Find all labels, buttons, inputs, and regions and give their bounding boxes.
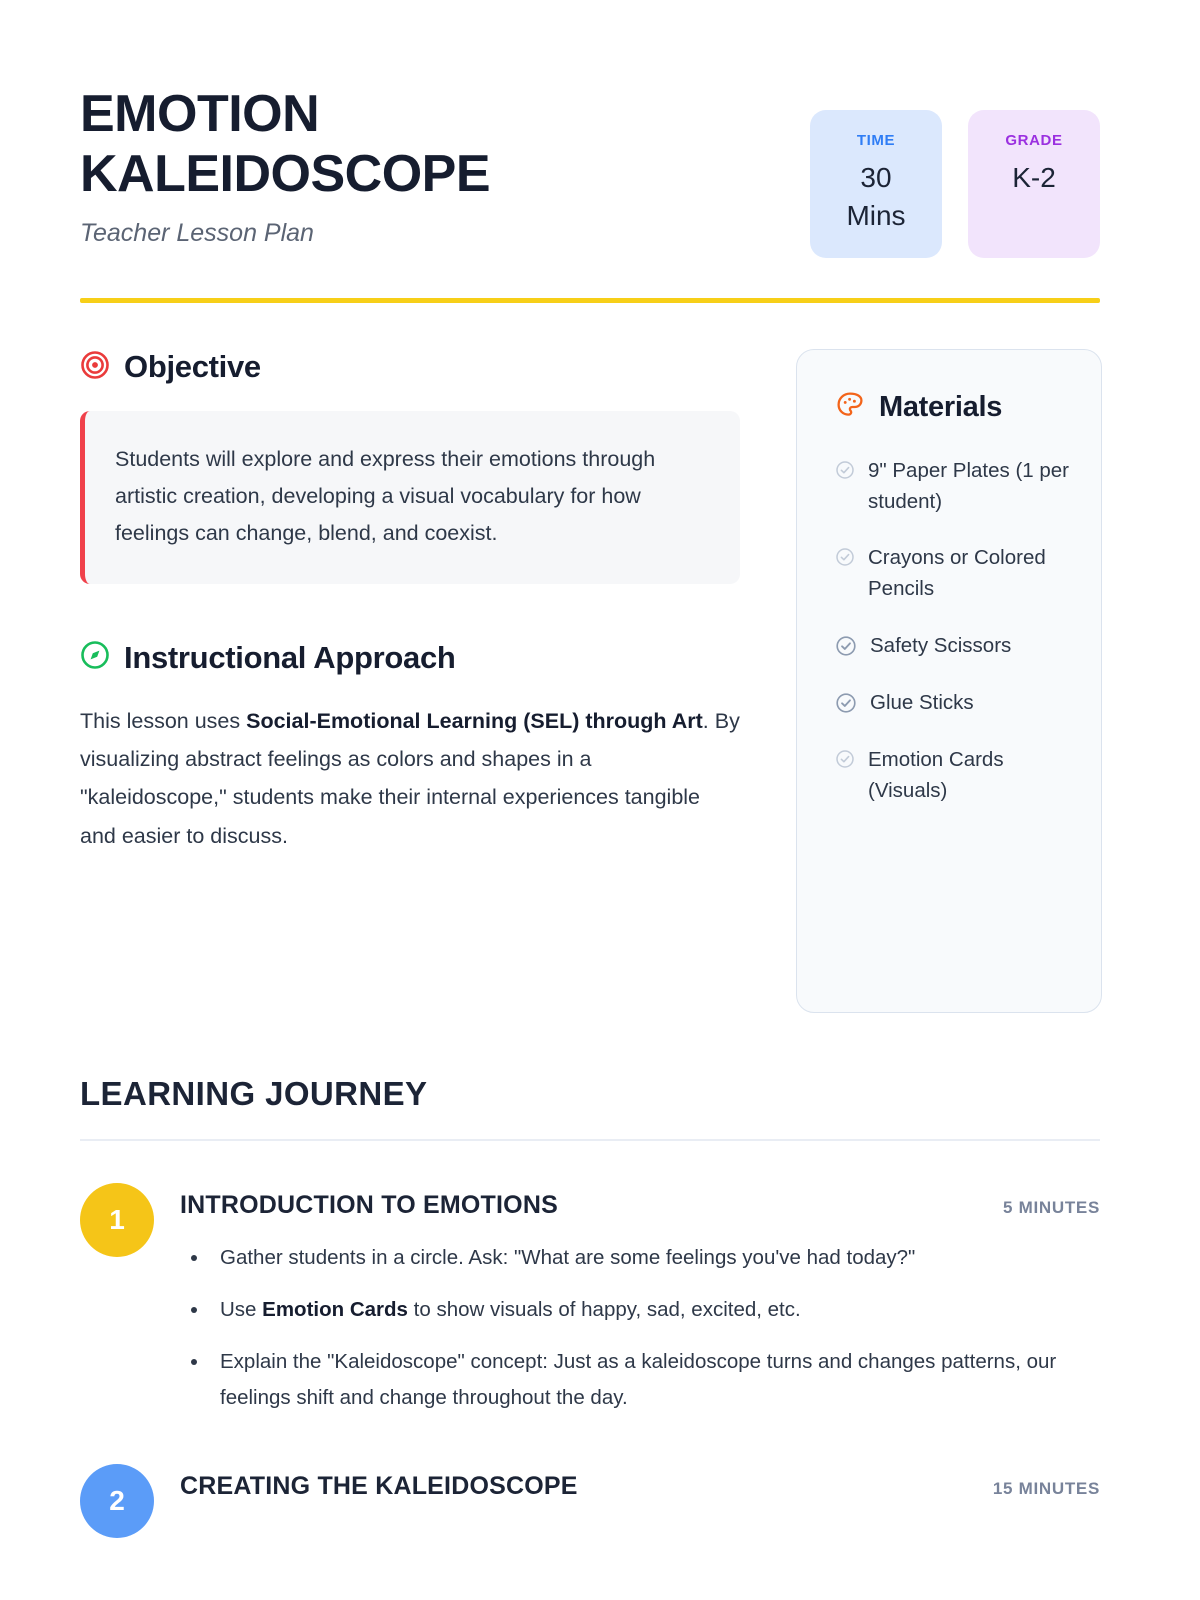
step-bullet-list: Gather students in a circle. Ask: "What … bbox=[180, 1240, 1100, 1416]
bullet-text-pre: Use bbox=[220, 1298, 262, 1321]
step-header: INTRODUCTION TO EMOTIONS 5 MINUTES bbox=[180, 1191, 1100, 1220]
objective-heading: Objective bbox=[80, 349, 740, 385]
step-body: CREATING THE KALEIDOSCOPE 15 MINUTES bbox=[180, 1464, 1100, 1538]
objective-title: Objective bbox=[124, 349, 261, 385]
meta-badges: TIME 30 Mins GRADE K-2 bbox=[810, 80, 1100, 258]
step-body: INTRODUCTION TO EMOTIONS 5 MINUTES Gathe… bbox=[180, 1183, 1100, 1416]
materials-card: Materials 9" Paper Plates (1 per student… bbox=[796, 349, 1102, 1013]
side-column: Materials 9" Paper Plates (1 per student… bbox=[796, 349, 1102, 1013]
material-label: Safety Scissors bbox=[870, 630, 1011, 661]
bullet-text-post: to show visuals of happy, sad, excited, … bbox=[408, 1298, 801, 1321]
list-item: Use Emotion Cards to show visuals of hap… bbox=[210, 1292, 1100, 1328]
check-circle-icon bbox=[835, 692, 857, 719]
materials-list: 9" Paper Plates (1 per student) Crayons … bbox=[835, 455, 1077, 806]
time-badge-label: TIME bbox=[857, 132, 895, 149]
approach-title: Instructional Approach bbox=[124, 640, 456, 676]
main-column: Objective Students will explore and expr… bbox=[80, 349, 740, 1013]
step-header: CREATING THE KALEIDOSCOPE 15 MINUTES bbox=[180, 1472, 1100, 1501]
material-label: 9" Paper Plates (1 per student) bbox=[868, 455, 1077, 517]
content-columns: Objective Students will explore and expr… bbox=[80, 349, 1100, 1013]
journey-step-2: 2 CREATING THE KALEIDOSCOPE 15 MINUTES bbox=[80, 1464, 1100, 1538]
check-circle-icon bbox=[835, 547, 855, 572]
step-duration: 15 MINUTES bbox=[993, 1479, 1100, 1499]
bullet-text-bold: Emotion Cards bbox=[262, 1298, 408, 1321]
target-icon bbox=[80, 350, 110, 385]
step-title: INTRODUCTION TO EMOTIONS bbox=[180, 1191, 558, 1220]
materials-title: Materials bbox=[879, 391, 1002, 424]
list-item: Safety Scissors bbox=[835, 630, 1077, 662]
list-item: Emotion Cards (Visuals) bbox=[835, 744, 1077, 806]
compass-icon bbox=[80, 640, 110, 675]
journey-step-1: 1 INTRODUCTION TO EMOTIONS 5 MINUTES Gat… bbox=[80, 1183, 1100, 1416]
step-number-badge: 1 bbox=[80, 1183, 154, 1257]
objective-text: Students will explore and express their … bbox=[115, 441, 708, 552]
approach-heading: Instructional Approach bbox=[80, 640, 740, 676]
journey-divider bbox=[80, 1139, 1100, 1141]
document-header: EMOTION KALEIDOSCOPE Teacher Lesson Plan… bbox=[80, 80, 1100, 258]
check-circle-icon bbox=[835, 635, 857, 662]
approach-bold: Social-Emotional Learning (SEL) through … bbox=[246, 709, 703, 733]
list-item: 9" Paper Plates (1 per student) bbox=[835, 455, 1077, 517]
lesson-plan-page: EMOTION KALEIDOSCOPE Teacher Lesson Plan… bbox=[0, 0, 1200, 1600]
approach-lead: This lesson uses bbox=[80, 709, 246, 733]
palette-icon bbox=[835, 390, 865, 425]
list-item: Crayons or Colored Pencils bbox=[835, 542, 1077, 604]
approach-text: This lesson uses Social-Emotional Learni… bbox=[80, 702, 740, 855]
material-label: Glue Sticks bbox=[870, 687, 974, 718]
list-item: Gather students in a circle. Ask: "What … bbox=[210, 1240, 1100, 1276]
learning-journey-section: LEARNING JOURNEY 1 INTRODUCTION TO EMOTI… bbox=[80, 1075, 1100, 1538]
time-badge-value: 30 Mins bbox=[846, 159, 905, 235]
time-badge: TIME 30 Mins bbox=[810, 110, 942, 258]
grade-badge-value: K-2 bbox=[1012, 159, 1056, 197]
grade-badge-label: GRADE bbox=[1005, 132, 1062, 149]
grade-badge: GRADE K-2 bbox=[968, 110, 1100, 258]
header-divider bbox=[80, 298, 1100, 303]
bullet-text: Gather students in a circle. Ask: "What … bbox=[220, 1246, 915, 1269]
material-label: Emotion Cards (Visuals) bbox=[868, 744, 1077, 806]
list-item: Glue Sticks bbox=[835, 687, 1077, 719]
journey-heading: LEARNING JOURNEY bbox=[80, 1075, 1100, 1113]
check-circle-icon bbox=[835, 460, 855, 485]
step-number-badge: 2 bbox=[80, 1464, 154, 1538]
page-subtitle: Teacher Lesson Plan bbox=[80, 219, 640, 248]
step-title: CREATING THE KALEIDOSCOPE bbox=[180, 1472, 578, 1501]
objective-callout: Students will explore and express their … bbox=[80, 411, 740, 584]
step-duration: 5 MINUTES bbox=[1003, 1198, 1100, 1218]
check-circle-icon bbox=[835, 749, 855, 774]
material-label: Crayons or Colored Pencils bbox=[868, 542, 1077, 604]
list-item: Explain the "Kaleidoscope" concept: Just… bbox=[210, 1344, 1100, 1416]
title-block: EMOTION KALEIDOSCOPE Teacher Lesson Plan bbox=[80, 80, 640, 248]
bullet-text: Explain the "Kaleidoscope" concept: Just… bbox=[220, 1350, 1056, 1409]
page-title: EMOTION KALEIDOSCOPE bbox=[80, 84, 640, 205]
materials-heading: Materials bbox=[835, 390, 1077, 425]
